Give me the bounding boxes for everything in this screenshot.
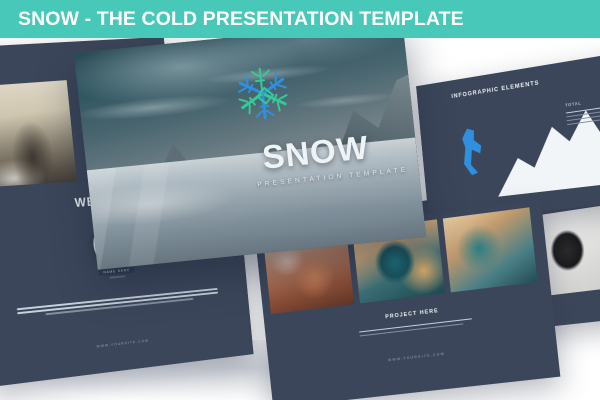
- avatar-underline: [109, 275, 125, 278]
- slide-infographic-body: INFOGRAPHIC ELEMENTS TOTAL: [416, 51, 600, 224]
- abstract-photo: [443, 207, 538, 292]
- slide-cover[interactable]: SNOW PRESENTATION TEMPLATE: [74, 38, 426, 270]
- slide-cover-body: SNOW PRESENTATION TEMPLATE: [74, 38, 426, 270]
- slide-welcome-paragraph: [17, 288, 219, 321]
- slide-infographic[interactable]: INFOGRAPHIC ELEMENTS TOTAL: [416, 51, 600, 224]
- meeting-photo: [0, 80, 77, 198]
- slide-portfolio-footer: WWW.YOURSITE.COM: [388, 352, 445, 362]
- slide-infographic-legend: [566, 105, 600, 128]
- snowflake-icon: [228, 60, 297, 128]
- slide-deck: ABOUT 01 02 WWW.YOUR: [0, 38, 600, 400]
- slide-portfolio-heading: PROJECT HERE: [385, 308, 439, 320]
- slide-portfolio-caption: [359, 318, 473, 339]
- header-banner: SNOW - THE COLD PRESENTATION TEMPLATE: [0, 0, 600, 38]
- slide-welcome-footer: WWW.YOURSITE.COM: [96, 339, 149, 349]
- page-title: SNOW - THE COLD PRESENTATION TEMPLATE: [18, 8, 464, 31]
- slide-infographic-heading: INFOGRAPHIC ELEMENTS: [451, 80, 540, 100]
- slide-infographic-legend-title: TOTAL: [565, 100, 582, 107]
- screenshot-root: SNOW - THE COLD PRESENTATION TEMPLATE AB…: [0, 0, 600, 400]
- skier-icon: [456, 126, 489, 176]
